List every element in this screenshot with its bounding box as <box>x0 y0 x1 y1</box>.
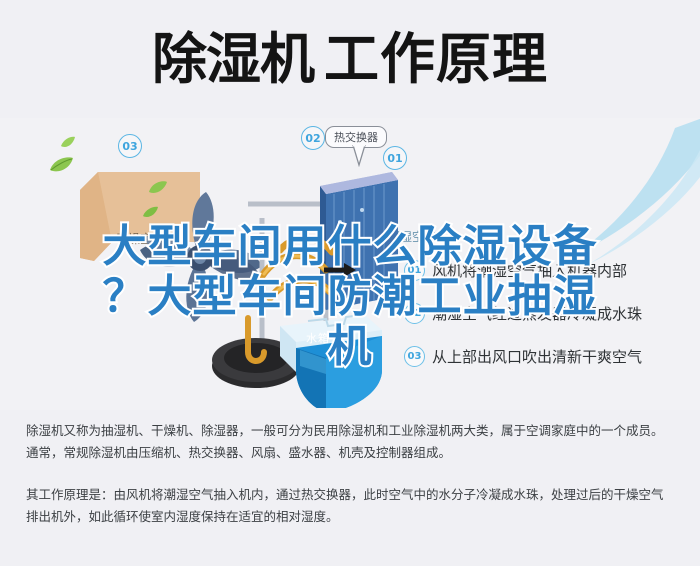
water-tank-icon <box>296 336 382 408</box>
page-title: 除湿机工作原理 <box>152 32 548 87</box>
legend-item-01: 01 风机将潮湿空气抽入机器内部 <box>404 260 692 281</box>
legend-item-02: 02 潮湿空气经过蒸发器冷凝成水珠 <box>404 303 692 324</box>
body-paragraph-1: 除湿机又称为抽湿机、干燥机、除湿器，一般可分为民用除湿机和工业除湿机两大类，属于… <box>26 420 674 464</box>
legend-label: 风机将潮湿空气抽入机器内部 <box>432 260 627 281</box>
legend-number: 03 <box>404 346 425 367</box>
article-body: 除湿机又称为抽湿机、干燥机、除湿器，一般可分为民用除湿机和工业除湿机两大类，属于… <box>26 420 674 528</box>
legend-number: 02 <box>404 303 425 324</box>
legend-label: 潮湿空气经过蒸发器冷凝成水珠 <box>432 303 642 324</box>
article-page: 除湿机工作原理 干燥空气 潮湿空气 0 <box>0 0 700 566</box>
page-title-part1: 除湿机 <box>152 27 314 91</box>
banner-title-area: 除湿机工作原理 <box>0 0 700 118</box>
fan-blades-icon <box>140 192 262 322</box>
leaf-icon <box>48 156 74 174</box>
legend-number: 01 <box>404 260 425 281</box>
legend-label: 从上部出风口吹出清新干爽空气 <box>432 346 642 367</box>
dehumidifier-diagram: 干燥空气 潮湿空气 03 02 01 热交换器 <box>0 118 700 410</box>
diagram-marker-02: 02 <box>301 126 325 150</box>
leaf-icon <box>60 136 76 149</box>
body-paragraph-2: 其工作原理是：由风机将潮湿空气抽入机内，通过热交换器，此时空气中的水分子冷凝成水… <box>26 484 674 528</box>
diagram-marker-03: 03 <box>118 134 142 158</box>
page-title-part2: 工作原理 <box>324 27 548 91</box>
process-legend: 01 风机将潮湿空气抽入机器内部 02 潮湿空气经过蒸发器冷凝成水珠 03 从上… <box>404 260 692 389</box>
water-tank-label: 水箱 <box>306 330 330 346</box>
dehumidifier-machine-illustration <box>130 158 430 408</box>
legend-item-03: 03 从上部出风口吹出清新干爽空气 <box>404 346 692 367</box>
